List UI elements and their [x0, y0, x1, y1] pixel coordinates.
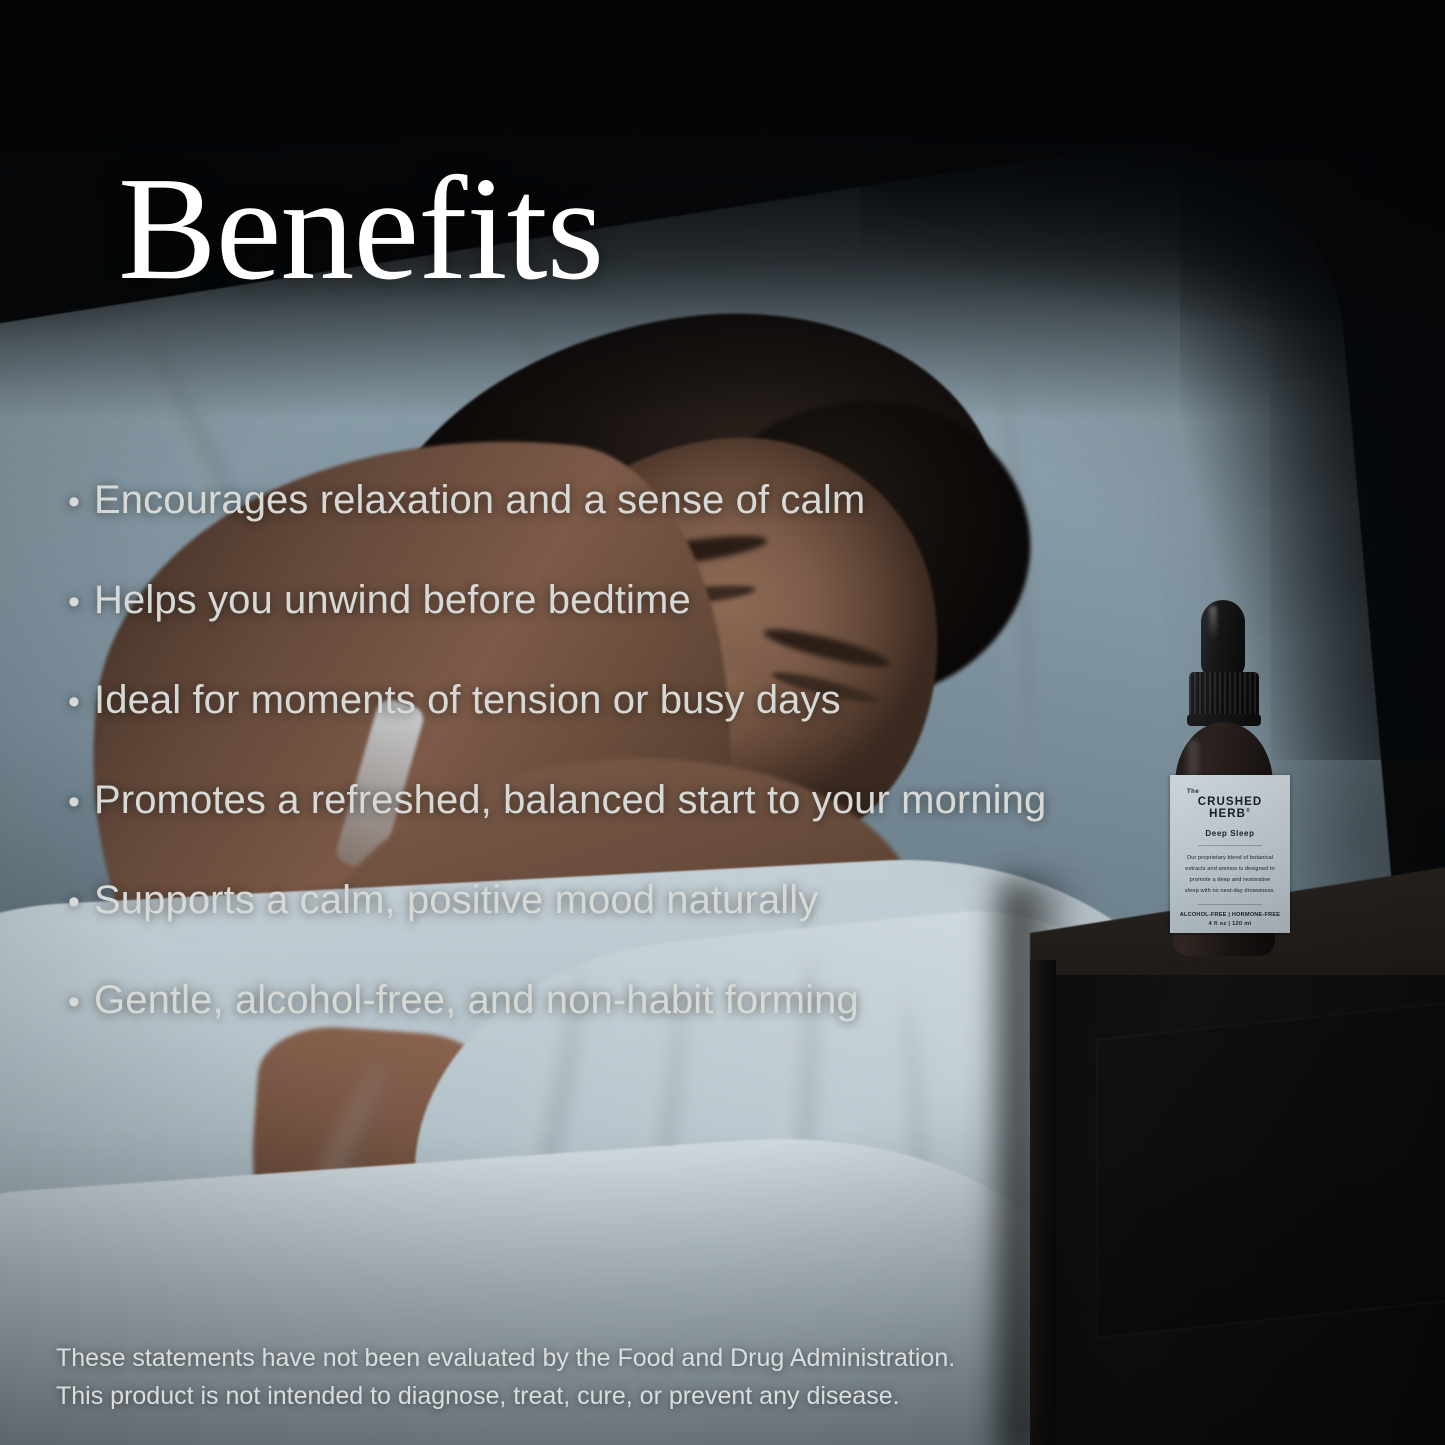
bullet-marker: • [68, 685, 80, 719]
text-overlay: Benefits • Encourages relaxation and a s… [0, 0, 1445, 1445]
bullet-marker: • [68, 885, 80, 919]
list-item: • Ideal for moments of tension or busy d… [68, 678, 1248, 778]
benefits-graphic: The CRUSHED HERB® Deep Sleep Our proprie… [0, 0, 1445, 1445]
list-item-label: Helps you unwind before bedtime [94, 578, 691, 623]
fda-disclaimer: These statements have not been evaluated… [56, 1340, 955, 1415]
disclaimer-line-1: These statements have not been evaluated… [56, 1340, 955, 1378]
page-title: Benefits [118, 155, 603, 303]
list-item: • Helps you unwind before bedtime [68, 578, 1248, 678]
bullet-marker: • [68, 485, 80, 519]
list-item-label: Encourages relaxation and a sense of cal… [94, 478, 865, 523]
list-item-label: Promotes a refreshed, balanced start to … [94, 778, 1046, 823]
list-item: • Encourages relaxation and a sense of c… [68, 478, 1248, 578]
list-item: • Supports a calm, positive mood natural… [68, 878, 1248, 978]
list-item: • Promotes a refreshed, balanced start t… [68, 778, 1248, 878]
benefits-list: • Encourages relaxation and a sense of c… [68, 478, 1248, 1078]
bullet-marker: • [68, 985, 80, 1019]
list-item-label: Supports a calm, positive mood naturally [94, 878, 818, 923]
list-item: • Gentle, alcohol-free, and non-habit fo… [68, 978, 1248, 1078]
list-item-label: Gentle, alcohol-free, and non-habit form… [94, 978, 859, 1023]
list-item-label: Ideal for moments of tension or busy day… [94, 678, 841, 723]
disclaimer-line-2: This product is not intended to diagnose… [56, 1378, 955, 1416]
bullet-marker: • [68, 785, 80, 819]
bullet-marker: • [68, 585, 80, 619]
